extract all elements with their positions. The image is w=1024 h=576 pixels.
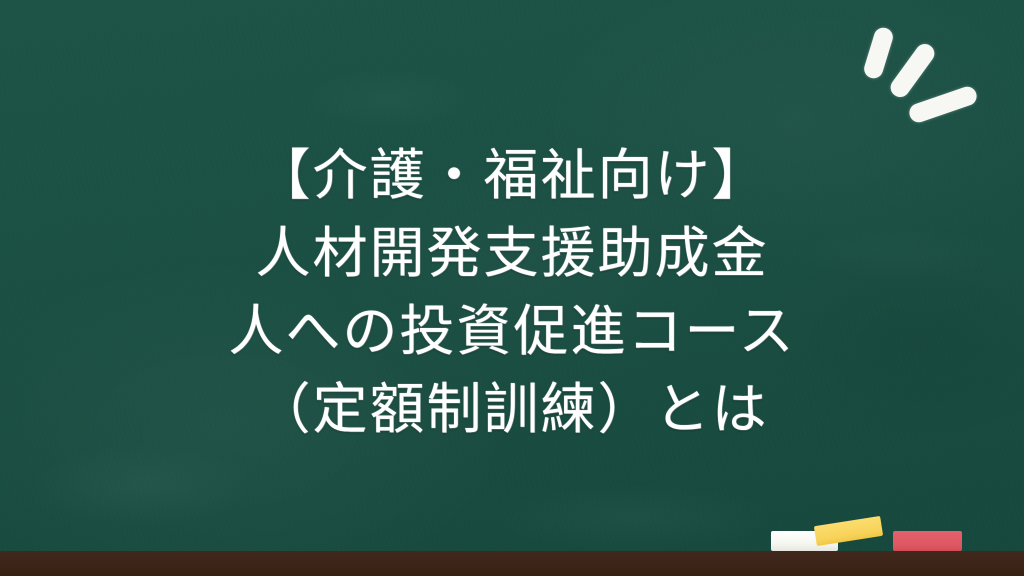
title-line-1: 【介護・福祉向け】 (0, 136, 1024, 214)
title-line-2: 人材開発支援助成金 (0, 214, 1024, 292)
title-line-3: 人への投資促進コース (0, 292, 1024, 370)
slide-title: 【介護・福祉向け】 人材開発支援助成金 人への投資促進コース （定額制訓練）とは (0, 136, 1024, 448)
title-line-4: （定額制訓練）とは (0, 370, 1024, 448)
chalk-stick-red-icon (893, 531, 962, 551)
chalkboard-ledge (0, 551, 1024, 576)
slide-canvas: 【介護・福祉向け】 人材開発支援助成金 人への投資促進コース （定額制訓練）とは (0, 0, 1024, 576)
